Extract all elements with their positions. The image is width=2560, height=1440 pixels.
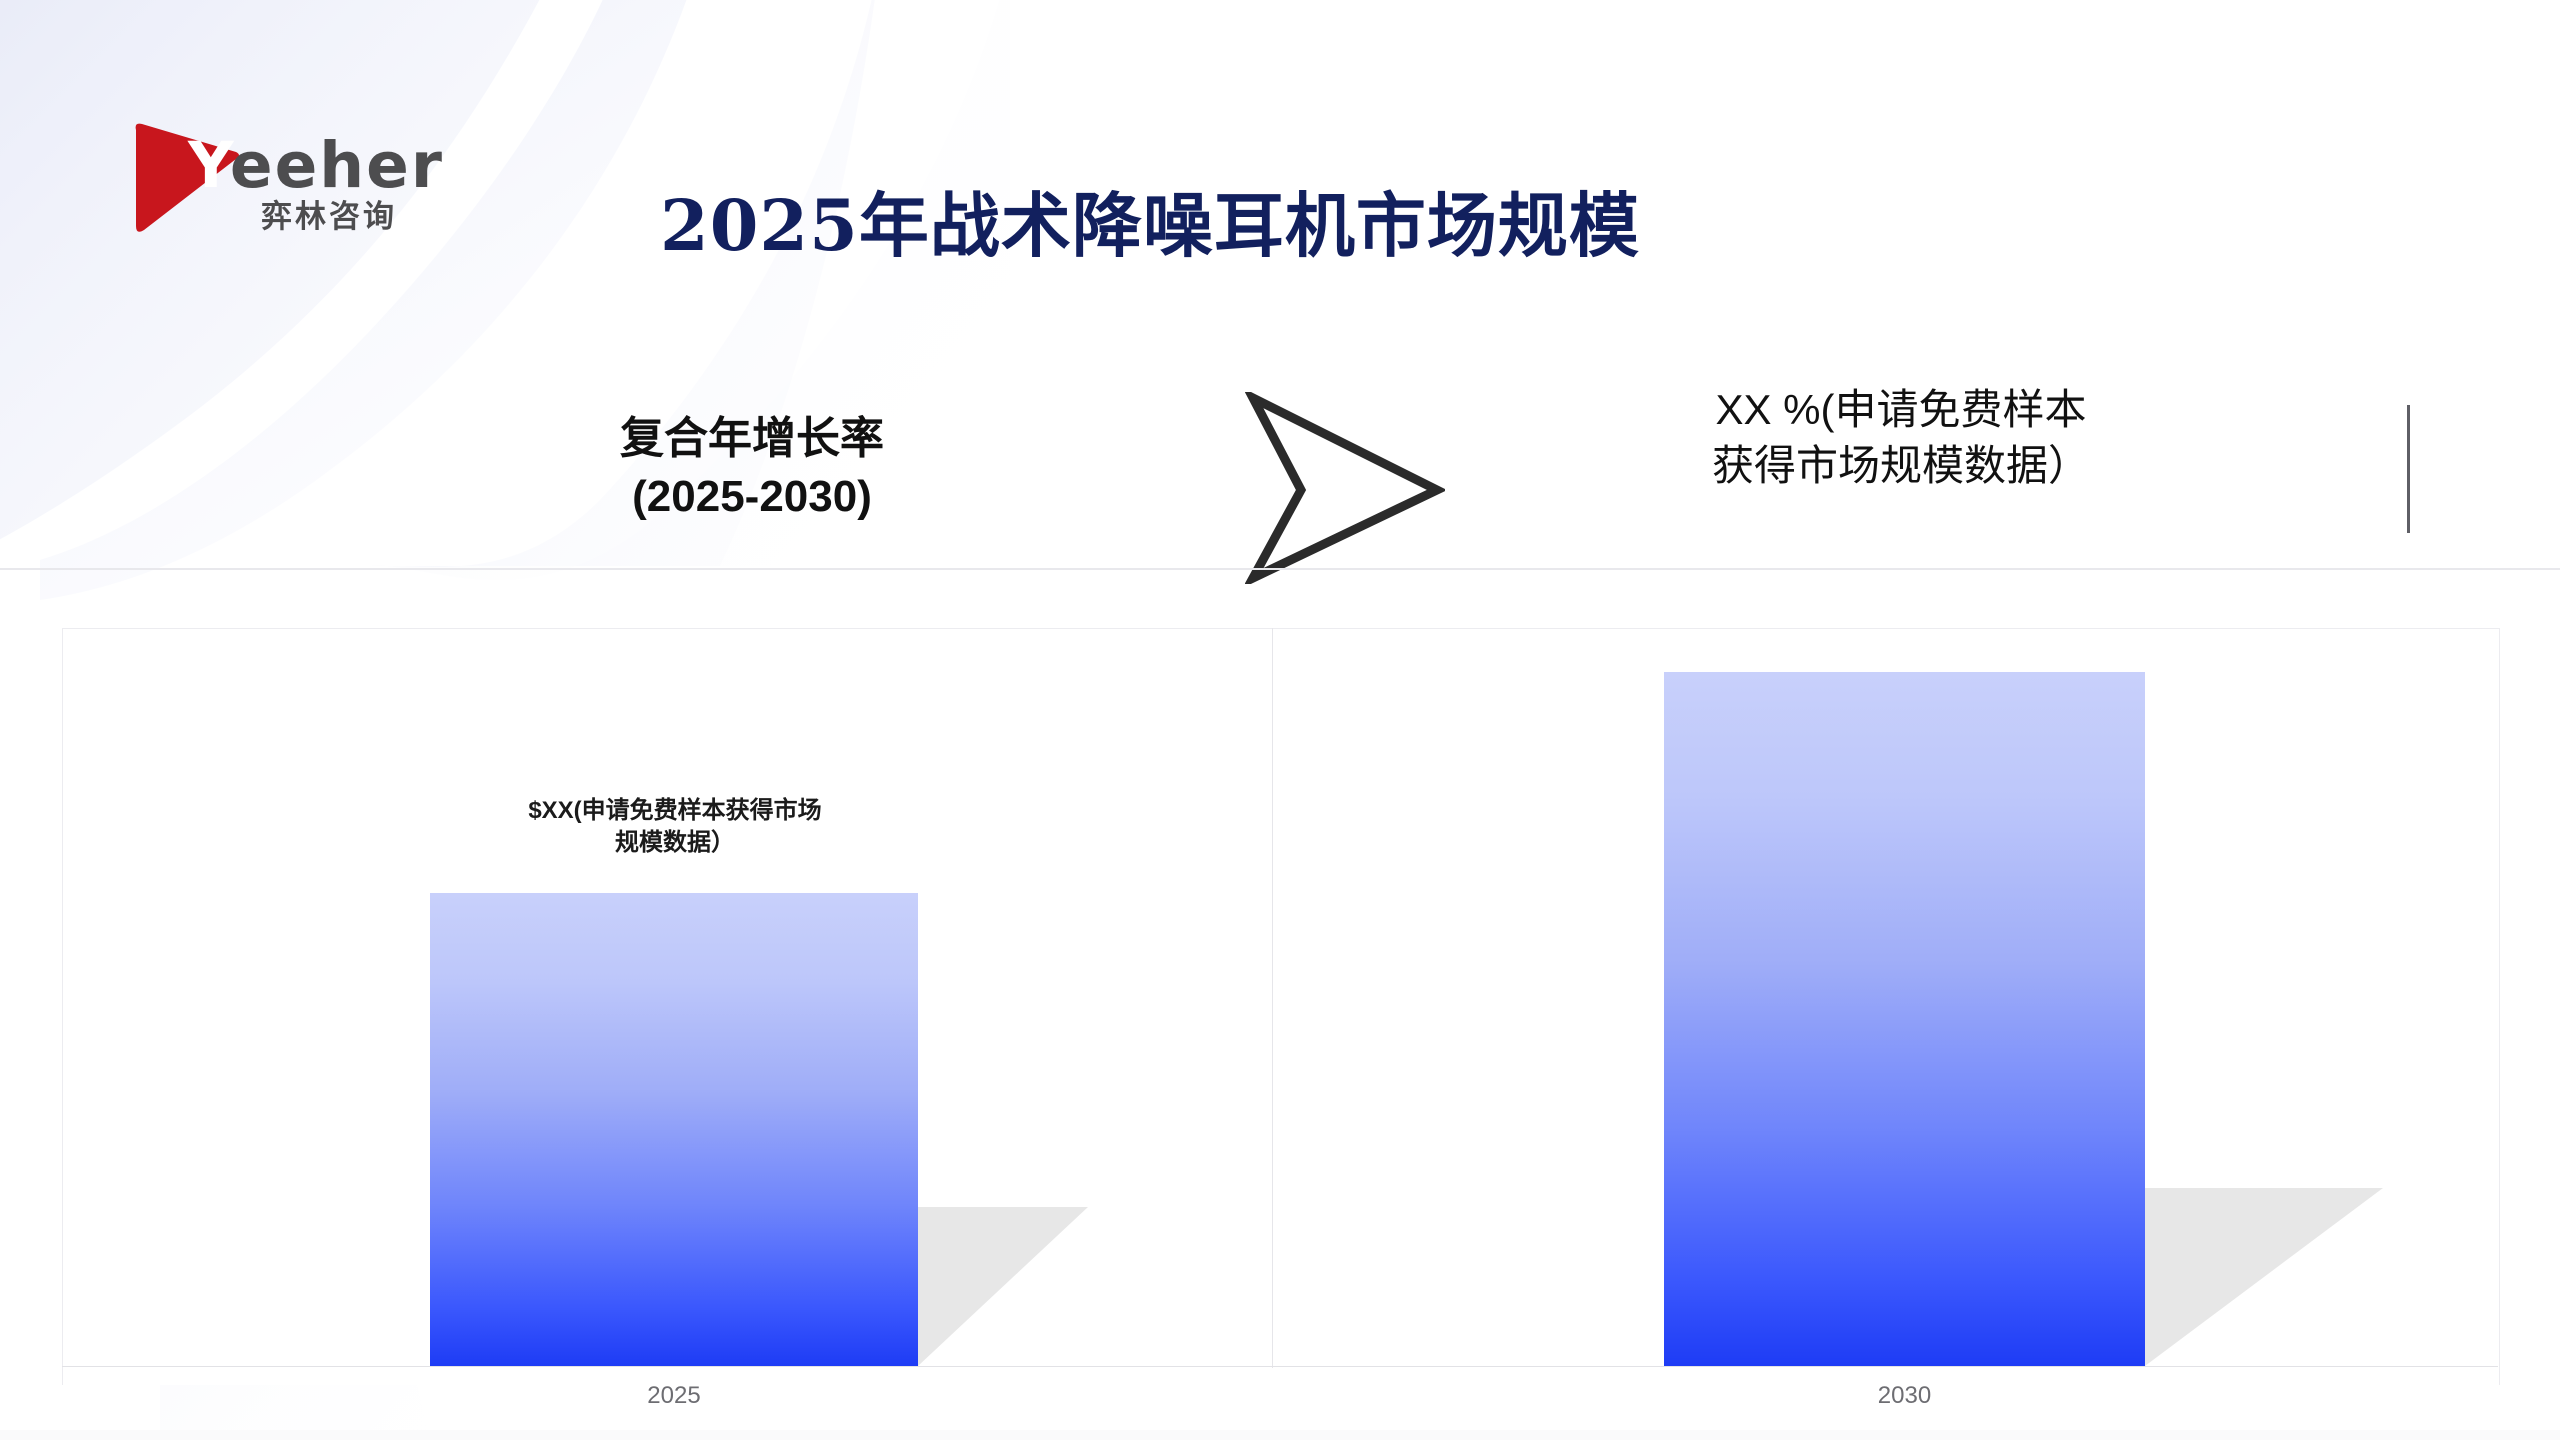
chart-panel-divider (1272, 628, 1273, 1368)
page-title: 2025年战术降噪耳机市场规模 (660, 170, 1640, 271)
header-chart-separator (0, 568, 2560, 570)
cagr-label-line2: (2025-2030) (552, 468, 952, 526)
header-right-rule (2407, 405, 2410, 533)
bar-2030[interactable] (1664, 672, 2145, 1366)
cagr-value: XX %(申请免费样本 获得市场规模数据） (1636, 382, 2166, 494)
brand-logo[interactable]: Yeeher 弈林咨询 (128, 112, 468, 242)
bar-value-label-2025: $XX(申请免费样本获得市场 规模数据） (440, 795, 910, 858)
brand-subtitle: 弈林咨询 (261, 202, 397, 233)
cagr-label: 复合年增长率 (2025-2030) (552, 410, 952, 526)
brand-wordmark-rest: eeher (230, 129, 444, 202)
arrow-right-outline-icon (1245, 392, 1445, 584)
brand-wordmark-capital: Y (188, 129, 230, 202)
cagr-label-line1: 复合年增长率 (552, 410, 952, 468)
header-band: Yeeher 弈林咨询 2025年战术降噪耳机市场规模 复合年增长率 (2025… (0, 0, 2560, 568)
bar-value-label-2025-line2: 规模数据） (440, 827, 910, 859)
bar-2025[interactable] (430, 893, 918, 1366)
bar-value-label-2025-line1: $XX(申请免费样本获得市场 (440, 795, 910, 827)
cagr-value-line2: 获得市场规模数据） (1636, 438, 2166, 494)
bottom-strip (0, 1430, 2560, 1440)
tick-label-2025: 2025 (430, 1384, 918, 1408)
brand-wordmark: Yeeher (188, 134, 444, 197)
tick-label-2030: 2030 (1664, 1384, 2145, 1408)
cagr-value-line1: XX %(申请免费样本 (1636, 382, 2166, 438)
chart-axis-line (62, 1366, 2498, 1367)
